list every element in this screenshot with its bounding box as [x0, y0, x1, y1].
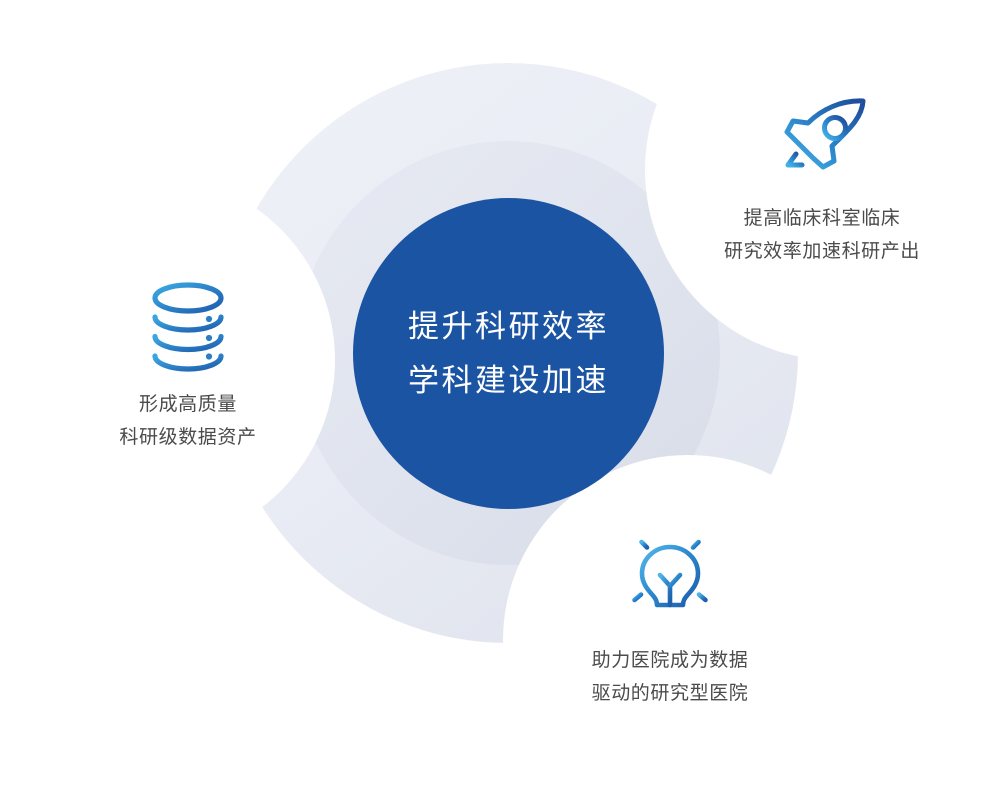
node-data-asset-label-line-2: 科研级数据资产 — [119, 421, 256, 454]
node-data-driven-hospital-label-line-2: 驱动的研究型医院 — [592, 677, 749, 710]
center-disc: 提升科研效率 学科建设加速 — [353, 198, 664, 509]
node-research-efficiency[interactable]: 提高临床科室临床 研究效率加速科研产出 — [672, 92, 972, 268]
database-stack-icon — [142, 278, 234, 376]
node-data-asset[interactable]: 形成高质量 科研级数据资产 — [48, 278, 328, 454]
node-research-efficiency-label-line-2: 研究效率加速科研产出 — [724, 235, 920, 268]
infographic-canvas: 提升科研效率 学科建设加速 — [0, 0, 985, 789]
rocket-icon — [768, 92, 876, 190]
node-data-asset-label-line-1: 形成高质量 — [139, 388, 237, 421]
center-headline-line-2: 学科建设加速 — [408, 354, 609, 408]
node-data-driven-hospital[interactable]: 助力医院成为数据 驱动的研究型医院 — [530, 528, 810, 710]
node-data-driven-hospital-label-line-1: 助力医院成为数据 — [592, 644, 749, 677]
lightbulb-idea-icon — [620, 528, 720, 632]
node-research-efficiency-label-line-1: 提高临床科室临床 — [744, 202, 901, 235]
center-headline-line-1: 提升科研效率 — [408, 300, 609, 354]
